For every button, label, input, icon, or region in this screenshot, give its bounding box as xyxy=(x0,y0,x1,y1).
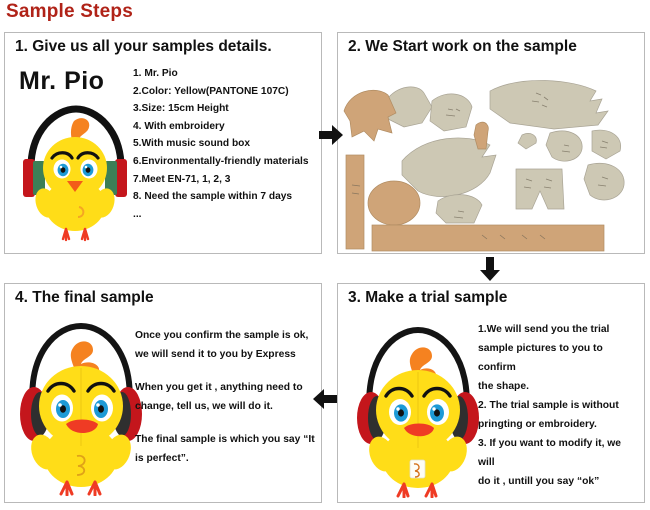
list-item: 8. Need the sample within 7 days xyxy=(133,188,315,206)
list-item: 5.With music sound box xyxy=(133,135,315,153)
arrow-step3-to-step4 xyxy=(312,388,338,410)
panel-2-title: 2. We Start work on the sample xyxy=(348,38,577,56)
list-item: 2.Color: Yellow(PANTONE 107C) xyxy=(133,83,315,101)
text-line: do it , untill you say “ok” xyxy=(478,472,640,491)
list-item: 3.Size: 15cm Height xyxy=(133,100,315,118)
list-item: ... xyxy=(133,206,315,224)
list-item: 6.Environmentally-friendly materials xyxy=(133,153,315,171)
step3-instruction-text: 1.We will send you the trial sample pict… xyxy=(478,320,640,491)
panel-step-3: 3. Make a trial sample xyxy=(337,283,645,503)
brand-name-label: Mr. Pio xyxy=(19,67,104,96)
arrow-step1-to-step2 xyxy=(318,124,344,146)
panel-step-1: 1. Give us all your samples details. Mr.… xyxy=(4,32,322,254)
step4-instruction-text: Once you confirm the sample is ok, we wi… xyxy=(135,326,317,482)
text-paragraph: The final sample is which you say “It is… xyxy=(135,430,317,468)
list-item: 7.Meet EN-71, 1, 2, 3 xyxy=(133,171,315,189)
chick-cartoon-illustration xyxy=(19,95,131,245)
chick-plush-photo-step3 xyxy=(352,318,484,498)
text-paragraph: When you get it , anything need to chang… xyxy=(135,378,317,416)
text-line: sample pictures to you to confirm xyxy=(478,339,640,377)
panel-step-4: 4. The final sample xyxy=(4,283,322,503)
text-line: 1.We will send you the trial xyxy=(478,320,640,339)
panel-4-title: 4. The final sample xyxy=(15,289,154,307)
sample-spec-list: 1. Mr. Pio 2.Color: Yellow(PANTONE 107C)… xyxy=(133,65,315,223)
cardboard-pattern-pieces-image xyxy=(340,57,644,253)
text-line: 2. The trial sample is without xyxy=(478,396,640,415)
text-line: pringting or embroidery. xyxy=(478,415,640,434)
panel-1-title: 1. Give us all your samples details. xyxy=(15,38,272,56)
chick-plush-photo-step4 xyxy=(15,314,147,496)
arrow-step2-to-step3 xyxy=(479,256,501,282)
list-item: 1. Mr. Pio xyxy=(133,65,315,83)
panel-step-2: 2. We Start work on the sample xyxy=(337,32,645,254)
list-item: 4. With embroidery xyxy=(133,118,315,136)
panel-3-title: 3. Make a trial sample xyxy=(348,289,507,307)
text-line: the shape. xyxy=(478,377,640,396)
text-line: 3. If you want to modify it, we will xyxy=(478,434,640,472)
text-paragraph: Once you confirm the sample is ok, we wi… xyxy=(135,326,317,364)
page-title: Sample Steps xyxy=(6,1,133,23)
